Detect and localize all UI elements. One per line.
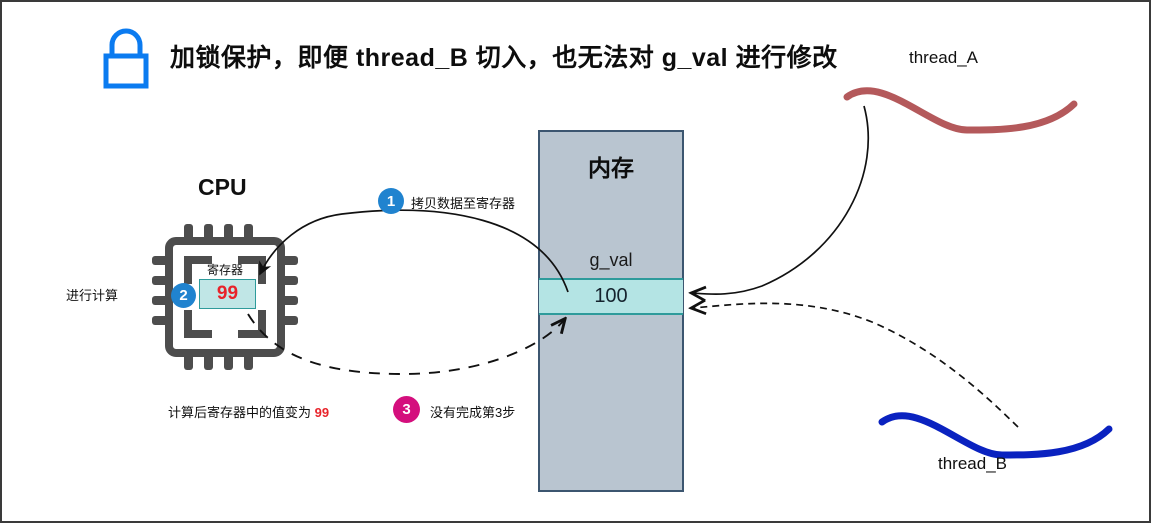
calc-result-label: 计算后寄存器中的值变为 99	[168, 402, 329, 421]
step-1-label: 拷贝数据至寄存器	[411, 193, 515, 212]
step-3-badge: 3	[393, 396, 420, 423]
writeback-dashed-arrow	[248, 314, 564, 374]
copy-to-register-arrow	[260, 210, 568, 292]
step-3-label: 没有完成第3步	[430, 402, 515, 421]
thread-b-blocked-arrow	[692, 303, 1018, 427]
diagram-canvas: 加锁保护，即便 thread_B 切入，也无法对 g_val 进行修改 thre…	[0, 0, 1151, 523]
calc-result-prefix: 计算后寄存器中的值变为	[168, 405, 315, 420]
thread-a-access-arrow	[692, 106, 868, 294]
arrow-layer	[2, 2, 1151, 523]
step-2-badge: 2	[171, 283, 196, 308]
step-1-badge: 1	[378, 188, 404, 214]
calc-result-value: 99	[315, 405, 329, 420]
